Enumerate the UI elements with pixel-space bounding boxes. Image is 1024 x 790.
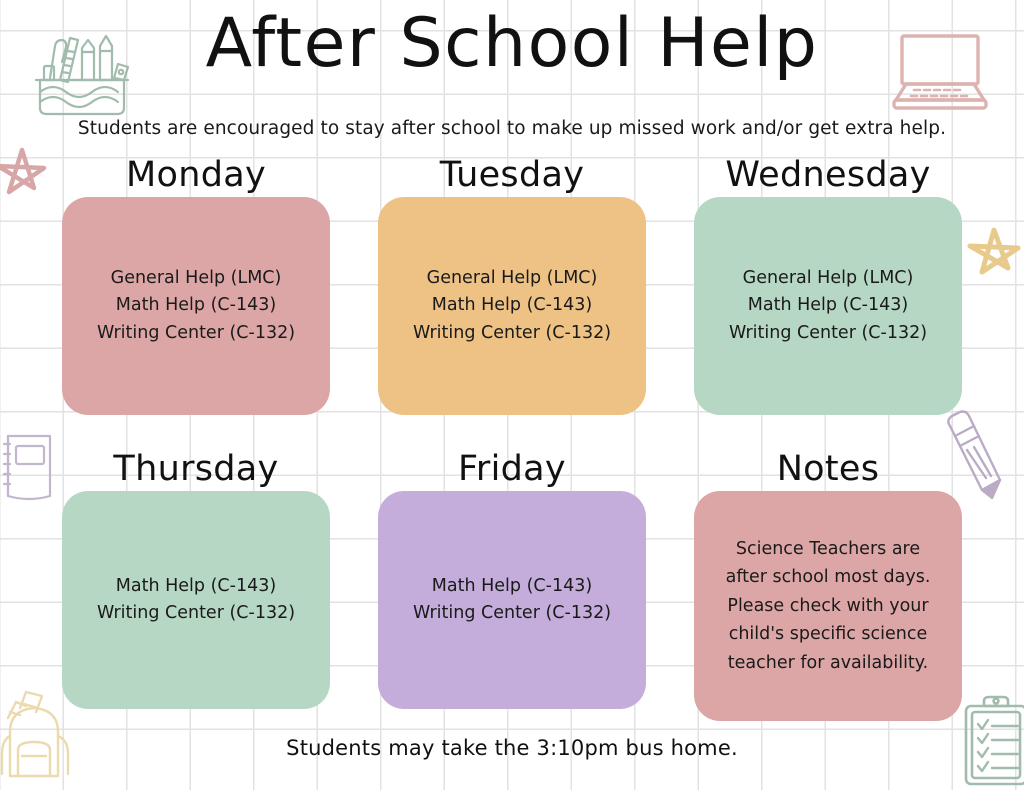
- day-column-wednesday: Wednesday General Help (LMC) Math Help (…: [694, 158, 962, 415]
- card-line: Writing Center (C-132): [729, 320, 927, 347]
- day-card-monday[interactable]: General Help (LMC) Math Help (C-143) Wri…: [62, 197, 330, 415]
- day-column-friday: Friday Math Help (C-143) Writing Center …: [378, 452, 646, 721]
- card-line: Math Help (C-143): [116, 573, 276, 600]
- day-column-thursday: Thursday Math Help (C-143) Writing Cente…: [62, 452, 330, 721]
- day-column-tuesday: Tuesday General Help (LMC) Math Help (C-…: [378, 158, 646, 415]
- day-heading-monday: Monday: [126, 158, 266, 193]
- day-cards-row-1: Monday General Help (LMC) Math Help (C-1…: [0, 158, 1024, 415]
- day-card-wednesday[interactable]: General Help (LMC) Math Help (C-143) Wri…: [694, 197, 962, 415]
- card-line: Writing Center (C-132): [413, 320, 611, 347]
- notes-heading: Notes: [777, 452, 880, 487]
- page-title: After School Help: [0, 8, 1024, 79]
- card-line: Math Help (C-143): [432, 292, 592, 319]
- card-line: Math Help (C-143): [116, 292, 276, 319]
- day-cards-row-2: Thursday Math Help (C-143) Writing Cente…: [0, 452, 1024, 721]
- card-line: Writing Center (C-132): [413, 600, 611, 627]
- day-card-friday[interactable]: Math Help (C-143) Writing Center (C-132): [378, 491, 646, 709]
- notes-card[interactable]: Science Teachers are after school most d…: [694, 491, 962, 721]
- card-line: Writing Center (C-132): [97, 600, 295, 627]
- card-line: General Help (LMC): [111, 265, 282, 292]
- day-card-thursday[interactable]: Math Help (C-143) Writing Center (C-132): [62, 491, 330, 709]
- day-heading-friday: Friday: [458, 452, 566, 487]
- day-heading-wednesday: Wednesday: [725, 158, 930, 193]
- day-card-tuesday[interactable]: General Help (LMC) Math Help (C-143) Wri…: [378, 197, 646, 415]
- notes-body: Science Teachers are after school most d…: [706, 535, 950, 677]
- card-line: General Help (LMC): [427, 265, 598, 292]
- day-heading-tuesday: Tuesday: [440, 158, 585, 193]
- card-line: General Help (LMC): [743, 265, 914, 292]
- day-column-notes: Notes Science Teachers are after school …: [694, 452, 962, 721]
- card-line: Math Help (C-143): [432, 573, 592, 600]
- footer-note: Students may take the 3:10pm bus home.: [0, 736, 1024, 760]
- card-line: Math Help (C-143): [748, 292, 908, 319]
- card-line: Writing Center (C-132): [97, 320, 295, 347]
- poster-canvas: After School Help Students are encourage…: [0, 0, 1024, 790]
- day-heading-thursday: Thursday: [113, 452, 278, 487]
- page-subtitle: Students are encouraged to stay after sc…: [0, 118, 1024, 139]
- day-column-monday: Monday General Help (LMC) Math Help (C-1…: [62, 158, 330, 415]
